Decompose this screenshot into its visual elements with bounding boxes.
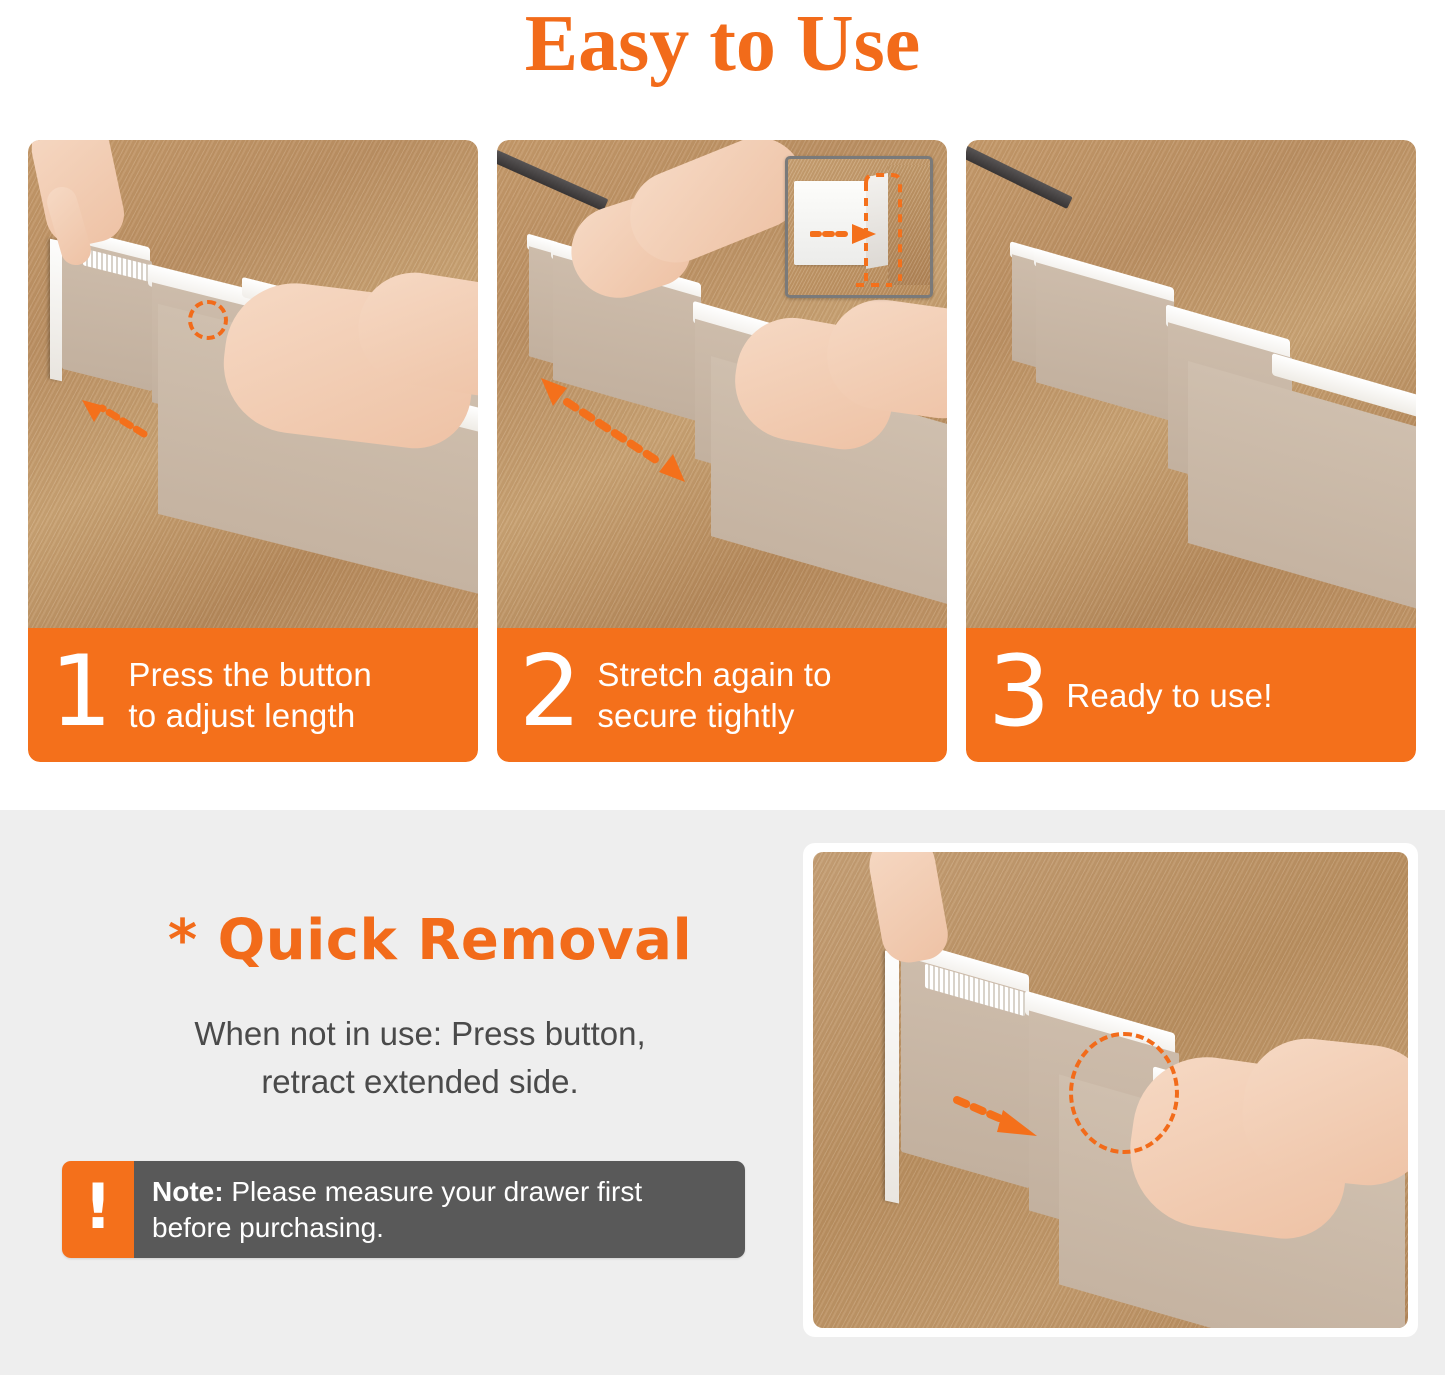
step-3-text: Ready to use! — [1066, 675, 1272, 716]
note-banner: ! Note: Please measure your drawer first… — [62, 1161, 745, 1258]
step-3-number: 3 — [988, 643, 1050, 741]
page-title: Easy to Use — [0, 0, 1445, 90]
dashed-double-arrow-icon — [533, 376, 693, 486]
step-1-photo — [28, 140, 478, 628]
note-label: Note: — [152, 1176, 224, 1207]
note-message: Please measure your drawer first before … — [152, 1176, 642, 1243]
step-3-photo — [966, 140, 1416, 628]
dashed-arrow-left-icon — [78, 398, 148, 444]
quick-removal-photo — [803, 843, 1418, 1337]
quick-removal-body: When not in use: Press button, retract e… — [100, 1010, 740, 1106]
drawer-rail — [966, 145, 1073, 209]
hand-upper-finger — [864, 852, 952, 967]
step-1-line2: to adjust length — [128, 695, 372, 736]
step-1-caption: 1 Press the button to adjust length — [28, 628, 478, 762]
infographic-page: Easy to Use — [0, 0, 1445, 1375]
step-card-2: 2 Stretch again to secure tightly — [497, 140, 947, 762]
step-3-caption: 3 Ready to use! — [966, 628, 1416, 762]
press-button-highlight-circle — [188, 300, 228, 340]
step-card-3: 3 Ready to use! — [966, 140, 1416, 762]
step-2-caption: 2 Stretch again to secure tightly — [497, 628, 947, 762]
press-button-highlight-circle — [1069, 1032, 1179, 1154]
exclamation-icon: ! — [62, 1161, 134, 1258]
quick-removal-heading: * Quick Removal — [110, 908, 750, 973]
step-2-number: 2 — [519, 643, 581, 741]
dashed-arrow-right-icon — [951, 1090, 1041, 1140]
step-3-line1: Ready to use! — [1066, 675, 1272, 716]
steps-row: 1 Press the button to adjust length — [28, 140, 1420, 762]
step-1-line1: Press the button — [128, 654, 372, 695]
drawer-rail — [497, 147, 608, 212]
quick-removal-body-line1: When not in use: Press button, — [100, 1010, 740, 1058]
step-1-text: Press the button to adjust length — [128, 654, 372, 736]
inset-closeup-photo — [785, 156, 933, 298]
step-1-number: 1 — [50, 643, 112, 741]
step-2-photo — [497, 140, 947, 628]
note-text: Note: Please measure your drawer first b… — [134, 1161, 745, 1258]
step-2-line1: Stretch again to — [597, 654, 831, 695]
step-card-1: 1 Press the button to adjust length — [28, 140, 478, 762]
step-2-line2: secure tightly — [597, 695, 831, 736]
quick-removal-photo-image — [813, 852, 1408, 1328]
easy-to-use-section: Easy to Use — [0, 0, 1445, 810]
step-2-text: Stretch again to secure tightly — [597, 654, 831, 736]
quick-removal-body-line2: retract extended side. — [100, 1058, 740, 1106]
